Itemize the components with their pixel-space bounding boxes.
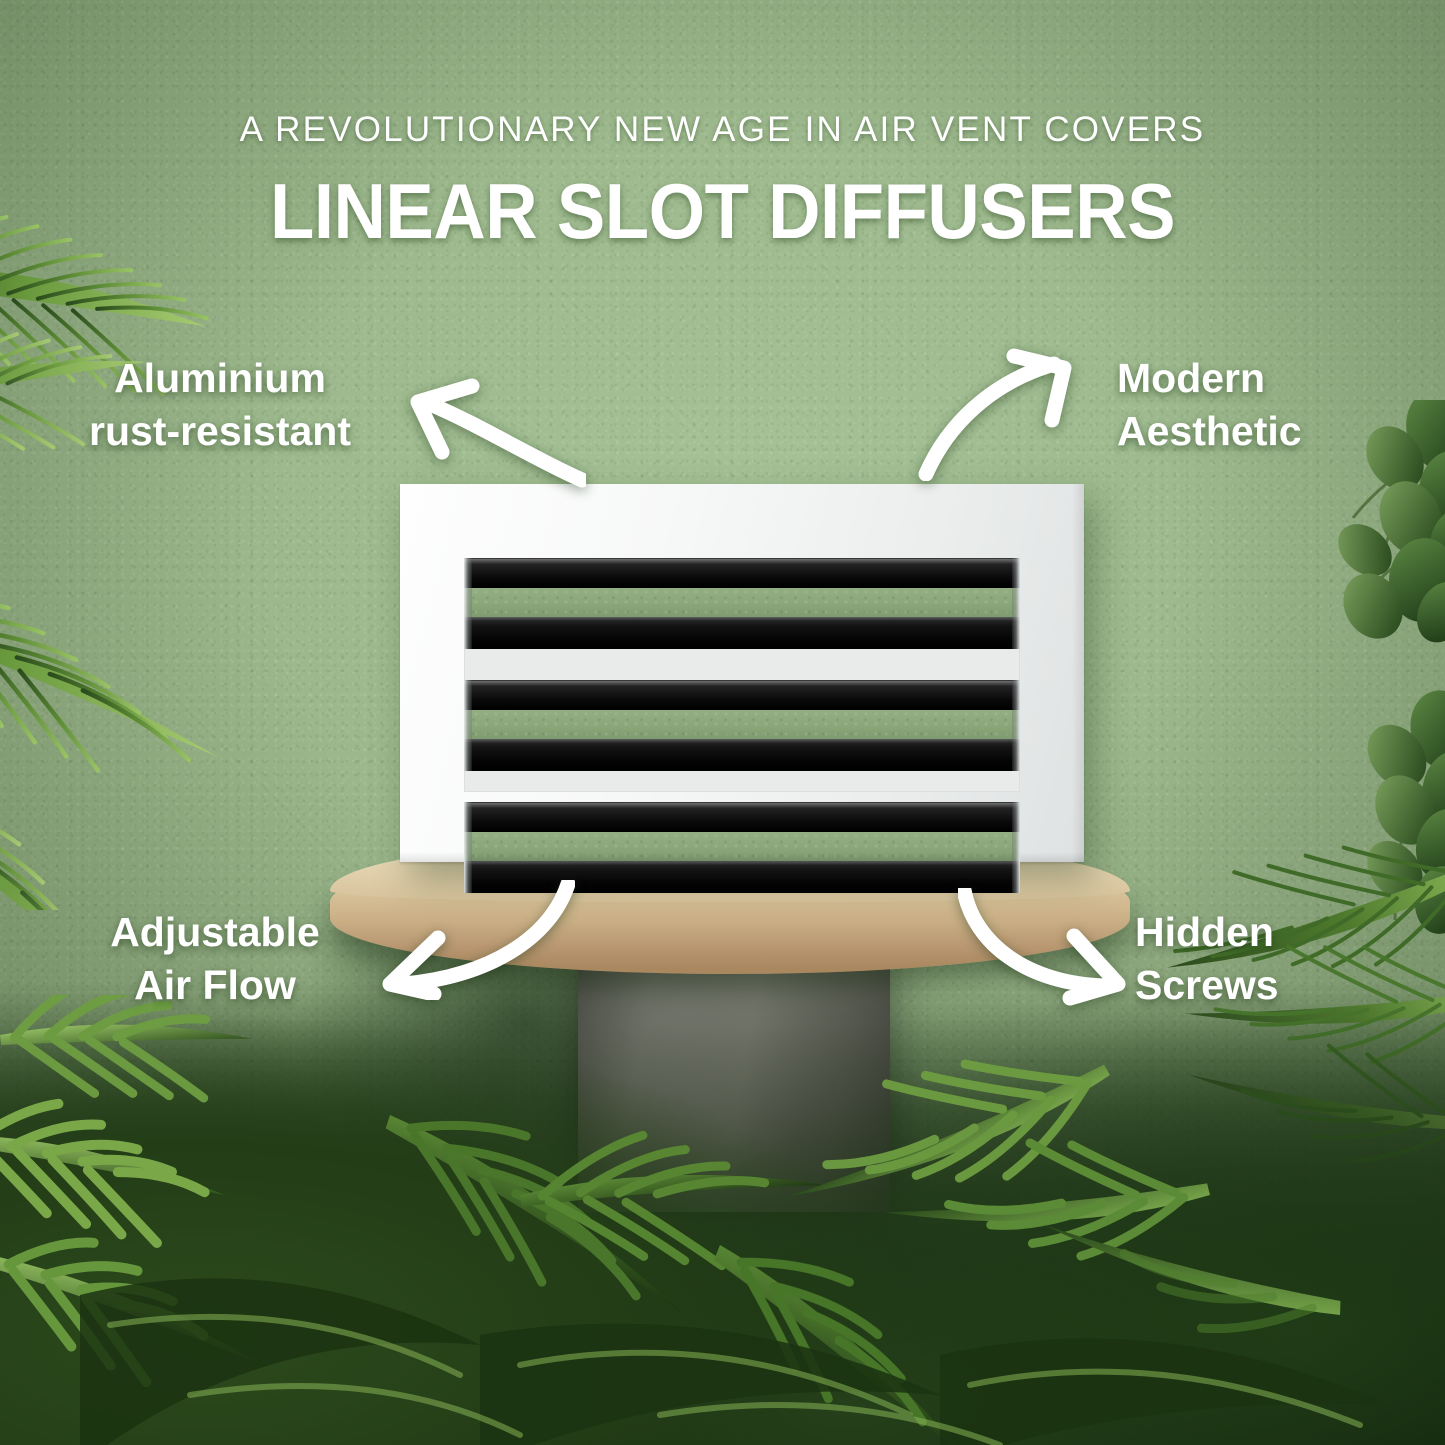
curved-arrow-left-icon: [360, 880, 575, 1000]
diffuser-endcap-left: [464, 558, 472, 649]
diffuser-blade-upper: [464, 558, 1020, 588]
curved-arrow-left-icon: [386, 368, 586, 488]
diffuser-slot-group-2[interactable]: [464, 680, 1020, 771]
feature-label-adjustable-air-flow: Adjustable Air Flow: [80, 906, 350, 1013]
feature-label-aluminium-rust-resistant: Aluminium rust-resistant: [40, 352, 400, 459]
diffuser-slot-opening: [464, 588, 1020, 617]
diffuser-slot-group-1[interactable]: [464, 558, 1020, 649]
diffuser-endcap-right: [1012, 558, 1020, 649]
kicker-text: A REVOLUTIONARY NEW AGE IN AIR VENT COVE…: [0, 110, 1445, 150]
feature-label-hidden-screws: Hidden Screws: [1135, 906, 1325, 1013]
feature-label-modern-aesthetic: Modern Aesthetic: [1117, 352, 1367, 459]
diffuser-frame-edge-right: [1072, 484, 1084, 862]
foliage-bank-bottom: [0, 995, 1445, 1445]
diffuser-endcap-left: [464, 802, 472, 893]
diffuser-blade-lower: [464, 617, 1020, 649]
curved-arrow-right-icon: [918, 346, 1093, 481]
curved-arrow-right-icon: [958, 888, 1133, 1006]
diffuser-blade-upper: [464, 802, 1020, 832]
diffuser-endcap-right: [1012, 680, 1020, 771]
diffuser-blade-upper: [464, 680, 1020, 710]
page-title: LINEAR SLOT DIFFUSERS: [51, 172, 1395, 250]
linear-slot-diffuser-product[interactable]: [400, 484, 1084, 862]
diffuser-face-recess: [464, 558, 1020, 792]
diffuser-frame-edge-bottom: [400, 852, 1084, 862]
poster-canvas: A REVOLUTIONARY NEW AGE IN AIR VENT COVE…: [0, 0, 1445, 1445]
diffuser-endcap-left: [464, 680, 472, 771]
diffuser-endcap-right: [1012, 802, 1020, 893]
diffuser-slot-opening: [464, 710, 1020, 739]
diffuser-blade-lower: [464, 739, 1020, 771]
